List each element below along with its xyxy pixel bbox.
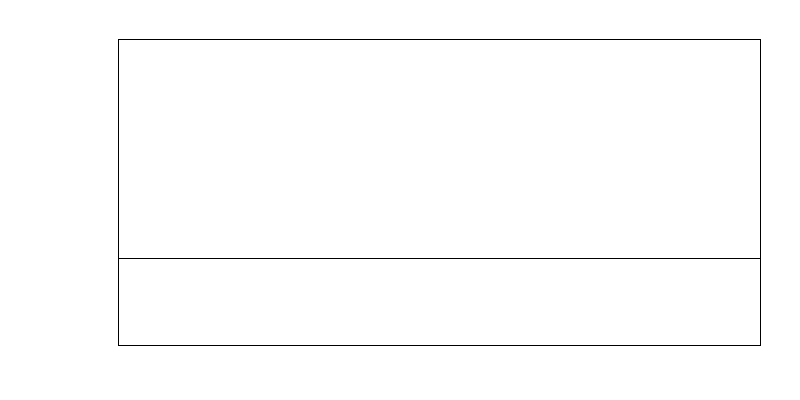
plot-surface xyxy=(0,0,800,400)
top-panel-frame xyxy=(119,40,761,259)
figure-canvas xyxy=(0,0,800,400)
bottom-panel-frame xyxy=(119,259,761,346)
